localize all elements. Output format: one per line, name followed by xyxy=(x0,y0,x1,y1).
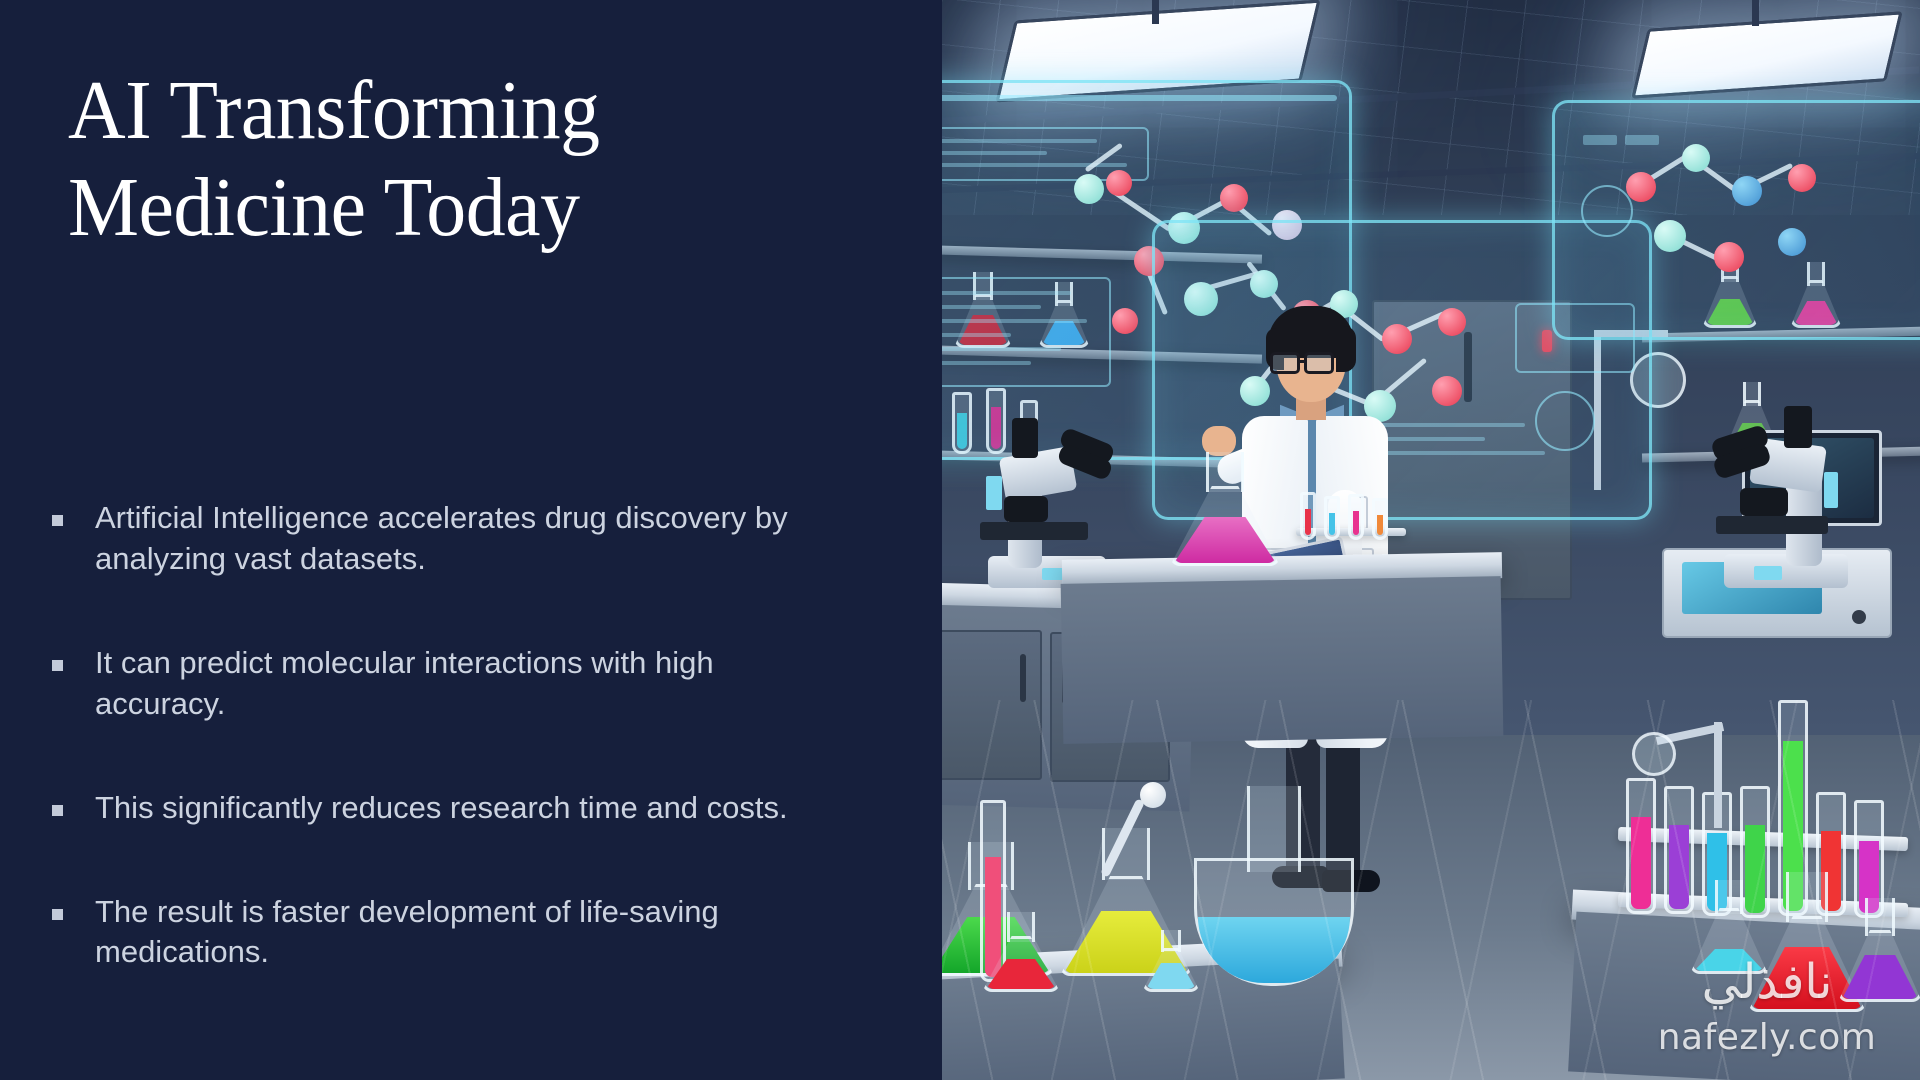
list-item: This significantly reduces research time… xyxy=(52,788,832,829)
title-line-2: Medicine Today xyxy=(68,159,847,256)
storage-cabinet xyxy=(942,630,1042,780)
test-tube xyxy=(1626,778,1656,914)
test-tube xyxy=(1300,492,1316,540)
list-item: It can predict molecular interactions wi… xyxy=(52,643,832,725)
lab-stand xyxy=(1714,722,1722,828)
microscope-objective xyxy=(1784,406,1812,448)
holo-text-line xyxy=(942,361,1031,365)
test-tube xyxy=(1348,494,1364,540)
microscope-objective xyxy=(1012,418,1038,458)
list-item-label: Artificial Intelligence accelerates drug… xyxy=(95,498,832,580)
scientist-hair xyxy=(1336,326,1356,372)
list-item: The result is faster development of life… xyxy=(52,892,832,974)
bullet-list: Artificial Intelligence accelerates drug… xyxy=(52,498,832,973)
holo-text-line xyxy=(942,333,1011,337)
molecule-model xyxy=(1602,130,1892,340)
square-bullet-icon xyxy=(52,660,63,671)
square-bullet-icon xyxy=(52,515,63,526)
list-item-label: It can predict molecular interactions wi… xyxy=(95,643,832,725)
erlenmeyer-flask xyxy=(982,912,1060,992)
microscope-stage xyxy=(980,522,1088,540)
erlenmeyer-flask xyxy=(1838,898,1920,1002)
square-bullet-icon xyxy=(52,805,63,816)
square-bullet-icon xyxy=(52,909,63,920)
erlenmeyer-flask xyxy=(1142,930,1200,992)
microscope-screen xyxy=(986,476,1002,510)
lab-bench-front xyxy=(1061,576,1504,744)
cabinet-handle xyxy=(1020,654,1026,702)
holo-header-bar xyxy=(942,95,1337,101)
microscope-screen xyxy=(1754,566,1782,580)
list-item-label: This significantly reduces research time… xyxy=(95,788,832,829)
holo-text-line xyxy=(942,305,1041,309)
title-line-1: AI Transforming xyxy=(68,62,847,159)
microscope-stage xyxy=(1716,516,1828,534)
list-item-label: The result is faster development of life… xyxy=(95,892,832,974)
eyeglasses-bridge xyxy=(1300,360,1306,363)
laboratory-illustration: نافذلي nafezly.com xyxy=(942,0,1920,1080)
microscope xyxy=(1698,408,1868,588)
microscope-objective xyxy=(1740,488,1788,516)
list-item: Artificial Intelligence accelerates drug… xyxy=(52,498,832,580)
status-led xyxy=(1852,610,1866,624)
eyeglasses-icon xyxy=(1270,352,1300,374)
test-tube xyxy=(1372,498,1388,540)
microscope-objective xyxy=(1004,496,1048,522)
holo-text-line xyxy=(942,347,1061,351)
holo-text-line xyxy=(942,151,1047,155)
presentation-slide: AI Transforming Medicine Today Artificia… xyxy=(0,0,1920,1080)
light-mount xyxy=(1752,0,1759,26)
light-mount xyxy=(1152,0,1159,24)
stirring-rod-knob xyxy=(1140,782,1166,808)
test-tube xyxy=(1324,496,1340,540)
erlenmeyer-flask xyxy=(1170,452,1280,566)
round-bottom-flask xyxy=(1632,732,1676,776)
page-title: AI Transforming Medicine Today xyxy=(68,62,847,257)
microscope-screen xyxy=(1824,472,1838,508)
eyeglasses-icon xyxy=(1304,352,1334,374)
content-panel: AI Transforming Medicine Today Artificia… xyxy=(0,0,942,1080)
round-bottom-flask xyxy=(1194,786,1354,986)
